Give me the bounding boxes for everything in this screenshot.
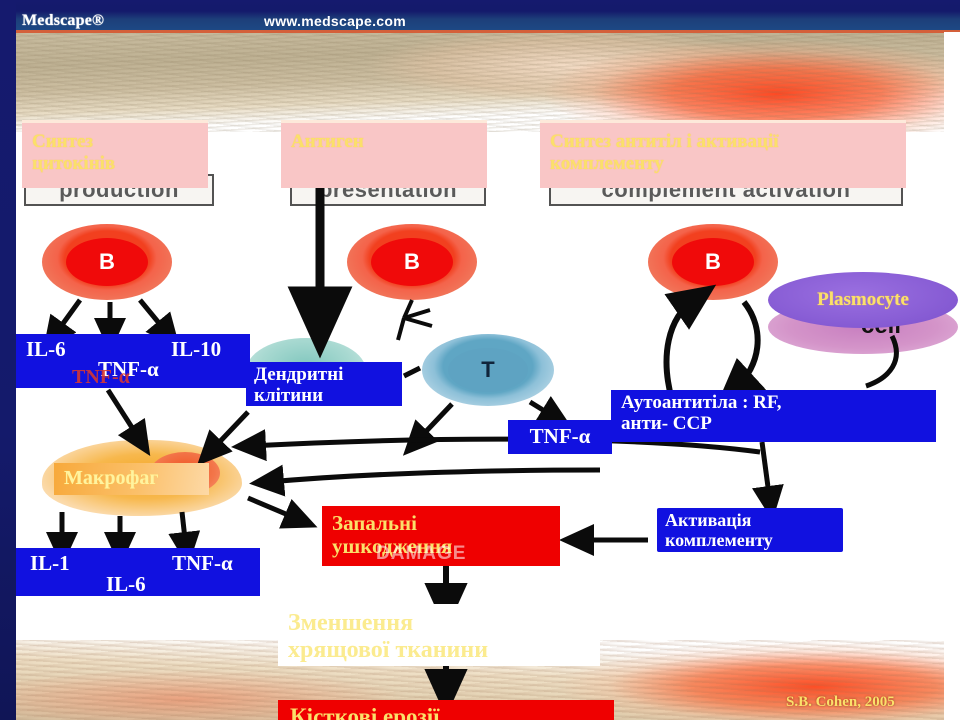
slide-canvas: Medscape® www.medscape.com production pr…	[0, 0, 960, 720]
cytokine-box-top: IL-6 IL-10 TNF-α	[16, 334, 250, 388]
plasmocyte-ellipse: Plasmocyte	[768, 272, 958, 328]
complement-line2: комплементу	[665, 531, 835, 551]
b-cell-middle-label: B	[371, 238, 453, 286]
overlay-antibody-line2: комплементу	[550, 153, 896, 175]
overlay-cytokine-synthesis: Синтез цитокінів	[22, 120, 208, 188]
label-il1-bottom: IL-1	[30, 552, 70, 575]
bone-texture-top	[16, 32, 944, 132]
complement-line1: Активація	[665, 511, 835, 531]
attribution-text: S.B. Cohen, 2005	[786, 694, 895, 711]
overlay-cytokine-line2: цитокінів	[32, 153, 198, 175]
left-navy-strip	[0, 0, 16, 720]
cartilage-line2: хрящової тканини	[288, 637, 590, 664]
t-cell: T	[422, 334, 554, 406]
medscape-header-band	[0, 0, 960, 32]
right-white-strip	[944, 32, 960, 720]
inflammatory-line1: Запальні	[332, 512, 550, 535]
cartilage-line1: Зменшення	[288, 610, 590, 637]
cytokine-box-bottom: IL-1 TNF-α IL-6	[16, 548, 260, 596]
faint-original-tnfa: TNF-α	[72, 366, 130, 389]
macrophage-label-box: Макрофаг	[54, 463, 209, 495]
overlay-antigen-line1: Антиген	[291, 131, 477, 153]
b-cell-left: B	[42, 224, 172, 300]
overlay-antibody-complement: Синтез антитіл і активації комплементу	[540, 120, 906, 188]
autoantibody-line1: Аутоантитіла : RF,	[621, 393, 926, 414]
t-cell-label: T	[448, 348, 528, 392]
label-il10-top: IL-10	[171, 338, 221, 361]
dendritic-line1: Дендритні	[254, 365, 394, 386]
header-rule	[16, 30, 960, 33]
medscape-url: www.medscape.com	[264, 13, 406, 29]
label-il6-top: IL-6	[26, 338, 66, 361]
autoantibody-box: Аутоантитіла : RF, анти- CCP	[611, 390, 936, 442]
b-cell-right: B	[648, 224, 778, 300]
b-cell-right-label: B	[672, 238, 754, 286]
autoantibody-line2: анти- CCP	[621, 414, 926, 435]
overlay-cytokine-line1: Синтез	[32, 131, 198, 153]
tnf-alpha-box: TNF-α	[508, 420, 612, 454]
label-tnfa-bottom: TNF-α	[172, 552, 233, 575]
dendritic-cells-box: Дендритні клітини	[246, 362, 402, 406]
complement-activation-box: Активація комплементу	[657, 508, 843, 552]
dendritic-line2: клітини	[254, 386, 394, 407]
bone-erosion-box: Кісткові ерозії	[278, 700, 614, 720]
overlay-antigen: Антиген	[281, 120, 487, 188]
inflammatory-damage-box: Запальні ушкодження DAMAGE	[322, 506, 560, 566]
inflammatory-original-label: DAMAGE	[376, 544, 466, 565]
overlay-antibody-line1: Синтез антитіл і активації	[550, 131, 896, 153]
cartilage-loss-box: Зменшення хрящової тканини	[278, 604, 600, 666]
label-il6-bottom: IL-6	[106, 573, 146, 596]
medscape-logo: Medscape®	[22, 12, 104, 30]
b-cell-middle: B	[347, 224, 477, 300]
b-cell-left-label: B	[66, 238, 148, 286]
